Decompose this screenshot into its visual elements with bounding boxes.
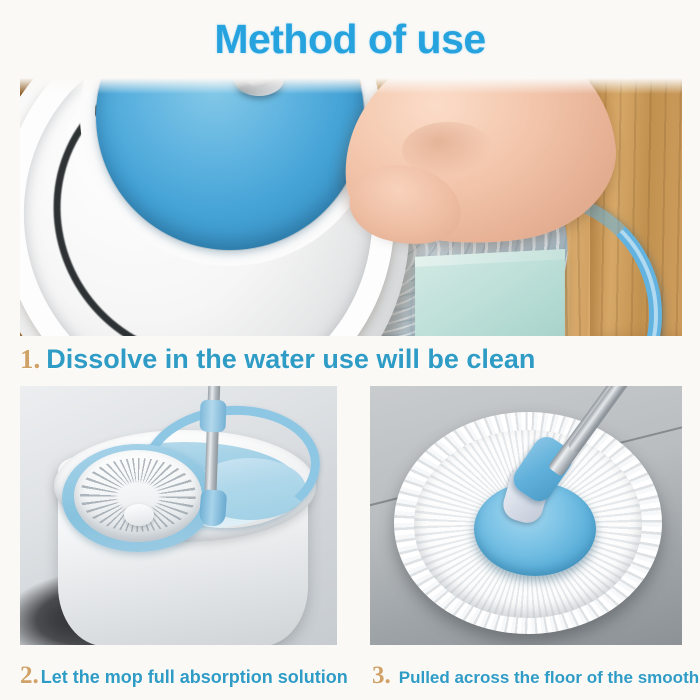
mop-pole-foot	[199, 489, 227, 527]
bucket-scene	[20, 386, 337, 645]
page-title: Method of use	[0, 16, 700, 63]
step-1-caption: 1.Dissolve in the water use will be clea…	[20, 344, 535, 375]
spinner-basket	[74, 450, 202, 542]
hero-scene	[20, 78, 682, 336]
mop-pole-collar	[199, 400, 226, 433]
step-3-number: 3.	[372, 662, 391, 689]
step-1-image	[20, 78, 682, 336]
step-2-image	[20, 386, 337, 645]
step-2-text: Let the mop full absorption solution	[41, 667, 348, 687]
step-3-image	[370, 386, 682, 645]
step-1-number: 1.	[20, 344, 40, 374]
step-2-number: 2.	[20, 662, 39, 689]
spinner-basket-hub	[124, 504, 154, 526]
hero-top-fade	[20, 78, 682, 94]
step-3-text: Pulled across the floor of the smooth as…	[399, 668, 700, 687]
step-2-caption: 2.Let the mop full absorption solution	[20, 662, 348, 690]
mop-scene	[370, 386, 682, 645]
step-1-text: Dissolve in the water use will be clean	[46, 344, 535, 374]
step-3-caption: 3.Pulled across the floor of the smooth …	[372, 662, 700, 690]
